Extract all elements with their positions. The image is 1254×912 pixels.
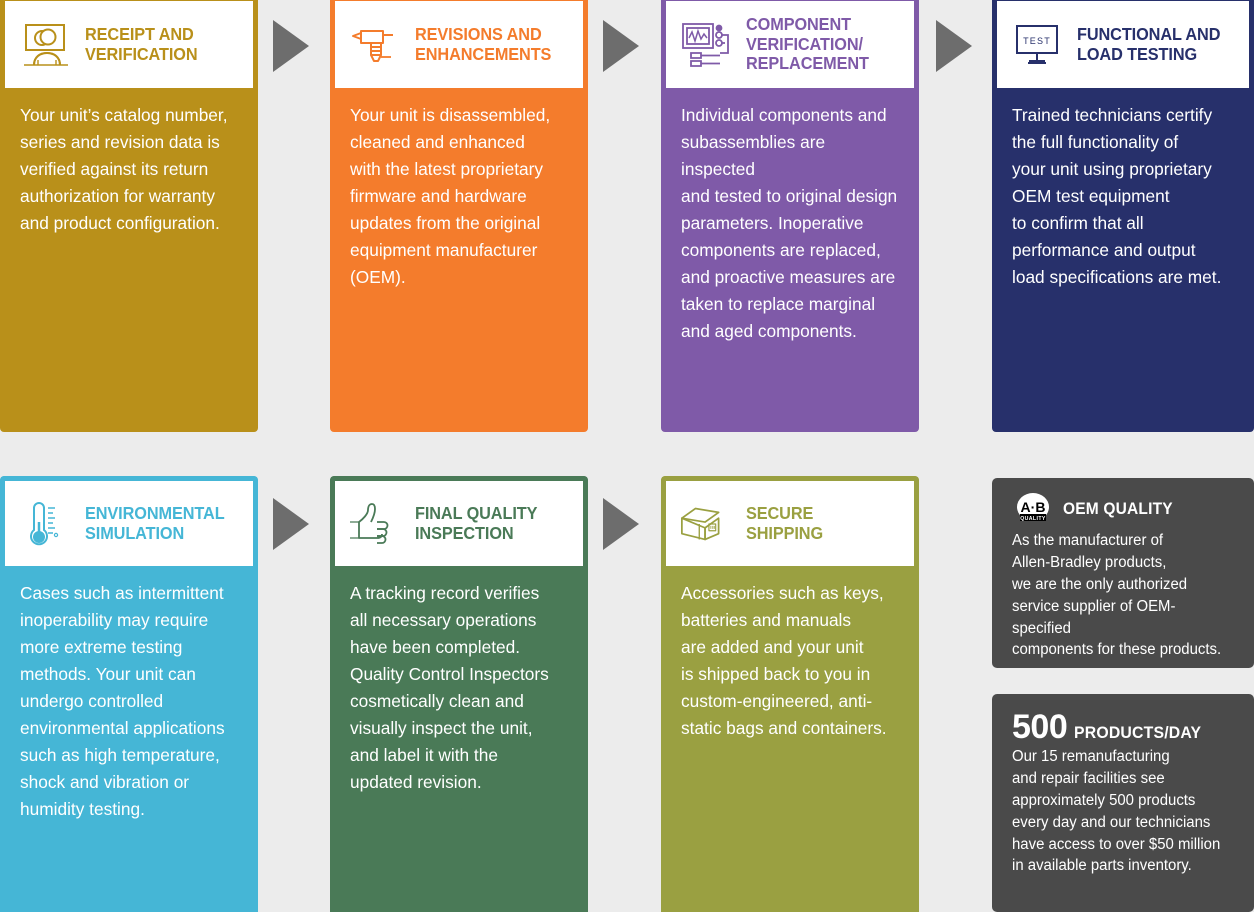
step-card-secure-shipping[interactable]: SECURE SHIPPING Accessories such as keys… [661, 476, 919, 912]
step-body-text: Your unit’s catalog number, series and r… [0, 88, 258, 432]
step-card-environmental-simulation[interactable]: ENVIRONMENTAL SIMULATION Cases such as i… [0, 476, 258, 912]
thermometer-icon [17, 499, 75, 549]
step-card-receipt-and-verification[interactable]: RECEIPT AND VERIFICATION Your unit’s cat… [0, 0, 258, 432]
products-per-day-number: 500 [1012, 710, 1067, 744]
thumbs-up-icon [347, 499, 405, 549]
step-header: COMPONENT VERIFICATION/ REPLACEMENT [661, 0, 919, 88]
step-card-functional-and-load-testing[interactable]: TEST FUNCTIONAL AND LOAD TESTING Trained… [992, 0, 1254, 432]
step-header: FINAL QUALITY INSPECTION [330, 476, 588, 566]
step-title: REVISIONS AND ENHANCEMENTS [415, 25, 551, 65]
products-per-day-body: Our 15 remanufacturing and repair facili… [1012, 746, 1231, 877]
products-per-day-label: PRODUCTS/DAY [1074, 723, 1201, 743]
oem-quality-body: As the manufacturer of Allen-Bradley pro… [1012, 530, 1231, 661]
flow-arrow-5 [603, 498, 639, 550]
svg-text:QUALITY: QUALITY [1020, 516, 1046, 522]
test-monitor-icon: TEST [1009, 20, 1067, 70]
products-per-day-header: 500 PRODUCTS/DAY [1012, 710, 1238, 744]
step-card-revisions-and-enhancements[interactable]: REVISIONS AND ENHANCEMENTS Your unit is … [330, 0, 588, 432]
step-title: RECEIPT AND VERIFICATION [85, 25, 198, 65]
step-body-text: Your unit is disassembled, cleaned and e… [330, 88, 588, 432]
step-title: SECURE SHIPPING [746, 504, 823, 544]
presentation-person-icon [17, 20, 75, 70]
step-header: RECEIPT AND VERIFICATION [0, 0, 258, 88]
flow-arrow-1 [273, 20, 309, 72]
step-card-component-verification-replacement[interactable]: COMPONENT VERIFICATION/ REPLACEMENT Indi… [661, 0, 919, 432]
step-header: SECURE SHIPPING [661, 476, 919, 566]
step-header: REVISIONS AND ENHANCEMENTS [330, 0, 588, 88]
power-drill-icon [347, 20, 405, 70]
oscilloscope-icon [678, 20, 736, 70]
products-per-day-panel: 500 PRODUCTS/DAY Our 15 remanufacturing … [992, 694, 1254, 912]
step-title: COMPONENT VERIFICATION/ REPLACEMENT [746, 15, 869, 75]
flow-arrow-2 [603, 20, 639, 72]
step-title: FUNCTIONAL AND LOAD TESTING [1077, 25, 1220, 65]
step-header: ENVIRONMENTAL SIMULATION [0, 476, 258, 566]
flow-arrow-4 [273, 498, 309, 550]
svg-text:A·B: A·B [1021, 499, 1046, 515]
step-body-text: A tracking record verifies all necessary… [330, 566, 588, 912]
step-title: FINAL QUALITY INSPECTION [415, 504, 537, 544]
step-body-text: Individual components and subassemblies … [661, 88, 919, 432]
oem-quality-heading: OEM QUALITY [1063, 500, 1173, 519]
step-title: ENVIRONMENTAL SIMULATION [85, 504, 225, 544]
oem-quality-header: A·B QUALITY OEM QUALITY [1012, 492, 1238, 526]
step-body-text: Accessories such as keys, batteries and … [661, 566, 919, 912]
flow-arrow-3 [936, 20, 972, 72]
allen-bradley-quality-badge-icon: A·B QUALITY [1012, 492, 1054, 526]
step-body-text: Trained technicians certify the full fun… [992, 88, 1254, 432]
step-card-final-quality-inspection[interactable]: FINAL QUALITY INSPECTION A tracking reco… [330, 476, 588, 912]
infographic-canvas: RECEIPT AND VERIFICATION Your unit’s cat… [0, 0, 1254, 912]
step-body-text: Cases such as intermittent inoperability… [0, 566, 258, 912]
step-header: TEST FUNCTIONAL AND LOAD TESTING [992, 0, 1254, 88]
svg-text:TEST: TEST [1023, 36, 1051, 46]
shipping-box-icon [678, 499, 736, 549]
oem-quality-panel: A·B QUALITY OEM QUALITY As the manufactu… [992, 478, 1254, 668]
